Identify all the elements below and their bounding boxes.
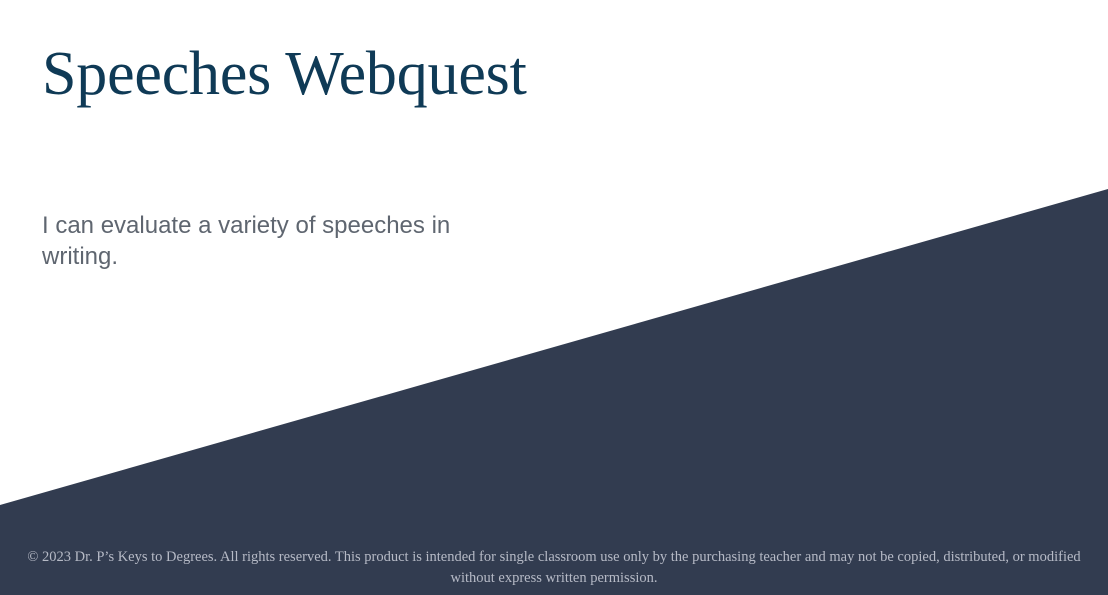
learning-objective-text: I can evaluate a variety of speeches in …: [42, 210, 472, 272]
presentation-slide: Speeches Webquest I can evaluate a varie…: [0, 0, 1108, 595]
copyright-footer: © 2023 Dr. P’s Keys to Degrees. All righ…: [0, 547, 1108, 589]
page-title: Speeches Webquest: [42, 40, 942, 109]
